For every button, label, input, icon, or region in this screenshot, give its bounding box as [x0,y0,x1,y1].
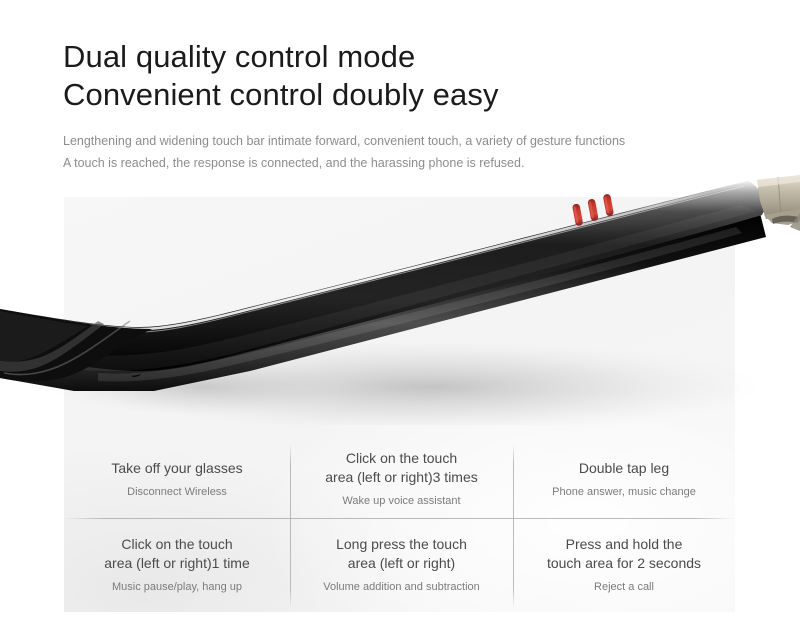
gesture-cell[interactable]: Click on the touch area (left or right)3… [290,440,513,518]
gesture-grid: Take off your glasses Disconnect Wireles… [64,440,735,612]
gesture-description: Wake up voice assistant [342,494,460,509]
page-title-line-1: Dual quality control mode [63,38,763,76]
gesture-description: Reject a call [594,580,654,595]
product-feature-page: Dual quality control mode Convenient con… [0,0,800,619]
grid-divider-horizontal [64,518,735,519]
gesture-title: Double tap leg [579,459,669,478]
gesture-row-top: Take off your glasses Disconnect Wireles… [64,440,735,518]
gesture-title: Take off your glasses [111,459,242,478]
gesture-title: Press and hold the touch area for 2 seco… [547,535,701,573]
subtitle-block: Lengthening and widening touch bar intim… [63,130,763,174]
gesture-cell[interactable]: Click on the touch area (left or right)1… [64,526,290,604]
gesture-title: Click on the touch area (left or right)1… [104,535,250,573]
gesture-title: Click on the touch area (left or right)3… [325,449,478,487]
page-title-line-2: Convenient control doubly easy [63,76,763,114]
subtitle-line-2: A touch is reached, the response is conn… [63,152,763,174]
gesture-title: Long press the touch area (left or right… [336,535,467,573]
heading-block: Dual quality control mode Convenient con… [63,38,763,174]
gesture-cell[interactable]: Press and hold the touch area for 2 seco… [513,526,735,604]
subtitle-line-1: Lengthening and widening touch bar intim… [63,130,763,152]
gesture-row-bottom: Click on the touch area (left or right)1… [64,526,735,604]
gesture-description: Volume addition and subtraction [323,580,480,595]
gesture-description: Disconnect Wireless [127,485,227,500]
gesture-description: Music pause/play, hang up [112,580,242,595]
gesture-cell[interactable]: Long press the touch area (left or right… [290,526,513,604]
gesture-description: Phone answer, music change [552,485,696,500]
gesture-cell[interactable]: Take off your glasses Disconnect Wireles… [64,440,290,518]
gesture-cell[interactable]: Double tap leg Phone answer, music chang… [513,440,735,518]
